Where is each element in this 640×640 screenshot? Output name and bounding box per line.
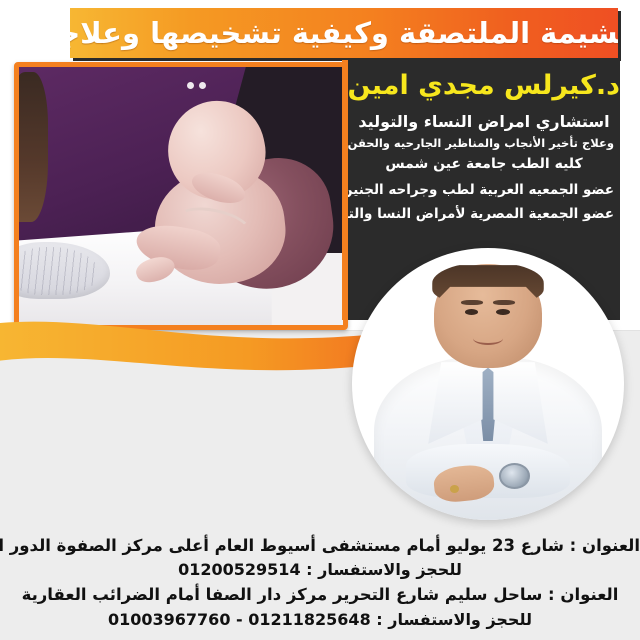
clinic-address-1: العنوان : شارع 23 يوليو أمام مستشفى أسيو… [0, 538, 640, 555]
highlight-dots [187, 82, 206, 89]
doctor-credential-2: وعلاج تأخير الأنجاب والمناظير الجارحيه و… [354, 136, 614, 150]
doctor-credential-5: عضو الجمعية المصرية لأمراض النسا والتولي… [354, 206, 614, 222]
doctor-portrait-circle [352, 248, 624, 520]
doctor-credential-3: كليه الطب جامعة عين شمس [354, 156, 614, 172]
clinic-address-2: العنوان : ساحل سليم شارع التحرير مركز دا… [0, 587, 640, 604]
page-title: المشيمة الملتصقة وكيفية تشخيصها وعلاجها [70, 19, 618, 48]
doctor-eyebrow-left [461, 300, 483, 305]
doctor-wristwatch [499, 463, 530, 489]
footer-contact-block: العنوان : شارع 23 يوليو أمام مستشفى أسيو… [0, 530, 640, 640]
fetus-placenta-illustration [19, 67, 343, 325]
doctor-eye-right [496, 309, 510, 315]
doctor-portrait [352, 248, 624, 536]
clinic-phone-2[interactable]: للحجز والاستفسار : 01211825648 - 0100396… [0, 612, 640, 628]
doctor-ring [450, 485, 460, 493]
clinic-phone-1[interactable]: للحجز والاستفسار : 01200529514 [0, 562, 640, 578]
doctor-credential-4: عضو الجمعيه العربية لطب وجراحه الجنين [354, 182, 614, 198]
mother-hair [19, 72, 48, 222]
doctor-name: د.كيرلس مجدي امين [348, 72, 620, 99]
doctor-eyebrow-right [493, 300, 515, 305]
illustration-frame [14, 62, 348, 330]
doctor-credential-1: استشاري امراض النساء والتوليد [354, 112, 614, 131]
poster-canvas: المشيمة الملتصقة وكيفية تشخيصها وعلاجها … [0, 0, 640, 640]
title-banner: المشيمة الملتصقة وكيفية تشخيصها وعلاجها [70, 8, 618, 58]
